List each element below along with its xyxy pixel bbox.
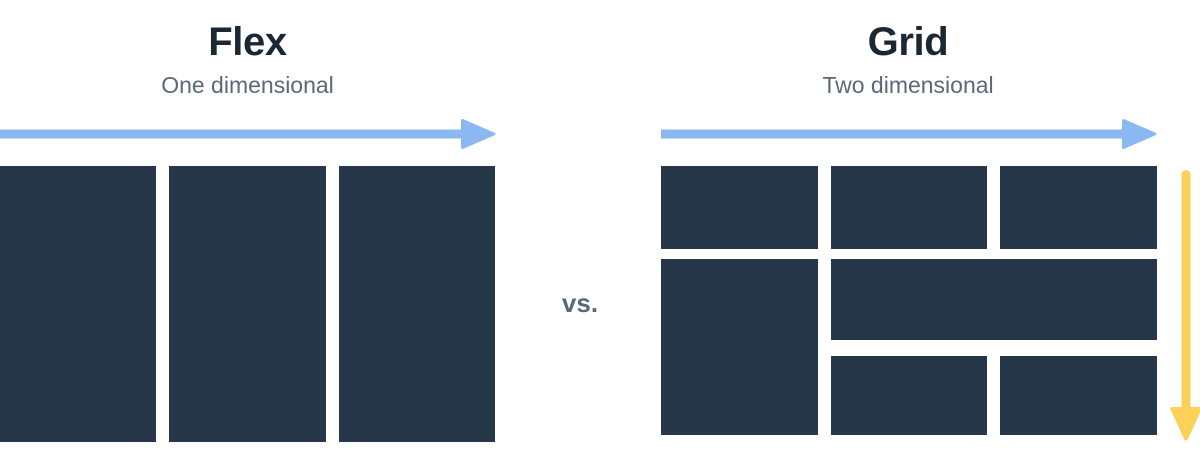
flex-box xyxy=(169,166,325,442)
grid-panel-header: Grid Two dimensional xyxy=(661,0,1155,110)
grid-box xyxy=(661,166,818,249)
flex-box xyxy=(339,166,495,442)
grid-vertical-axis-arrow xyxy=(1168,164,1200,448)
flex-title: Flex xyxy=(0,0,495,67)
flex-box xyxy=(0,166,156,442)
grid-box xyxy=(831,259,1157,340)
grid-horizontal-axis-arrow xyxy=(659,118,1157,150)
flex-subtitle: One dimensional xyxy=(0,67,495,99)
grid-subtitle: Two dimensional xyxy=(661,67,1155,99)
grid-box xyxy=(831,166,988,249)
flex-box-row xyxy=(0,166,495,442)
arrow-right-icon xyxy=(661,119,1157,149)
arrow-down-icon xyxy=(1170,170,1200,441)
grid-box xyxy=(1000,166,1157,249)
grid-title: Grid xyxy=(661,0,1155,67)
arrow-right-icon xyxy=(0,119,496,149)
grid-box xyxy=(831,356,988,435)
flex-panel-header: Flex One dimensional xyxy=(0,0,495,110)
grid-box xyxy=(661,259,818,435)
versus-label: vs. xyxy=(506,287,654,319)
grid-box-grid xyxy=(661,166,1157,442)
grid-box xyxy=(1000,356,1157,435)
flex-horizontal-axis-arrow xyxy=(0,118,497,150)
comparison-diagram: Flex One dimensional vs. Grid Two dimens… xyxy=(0,0,1200,452)
